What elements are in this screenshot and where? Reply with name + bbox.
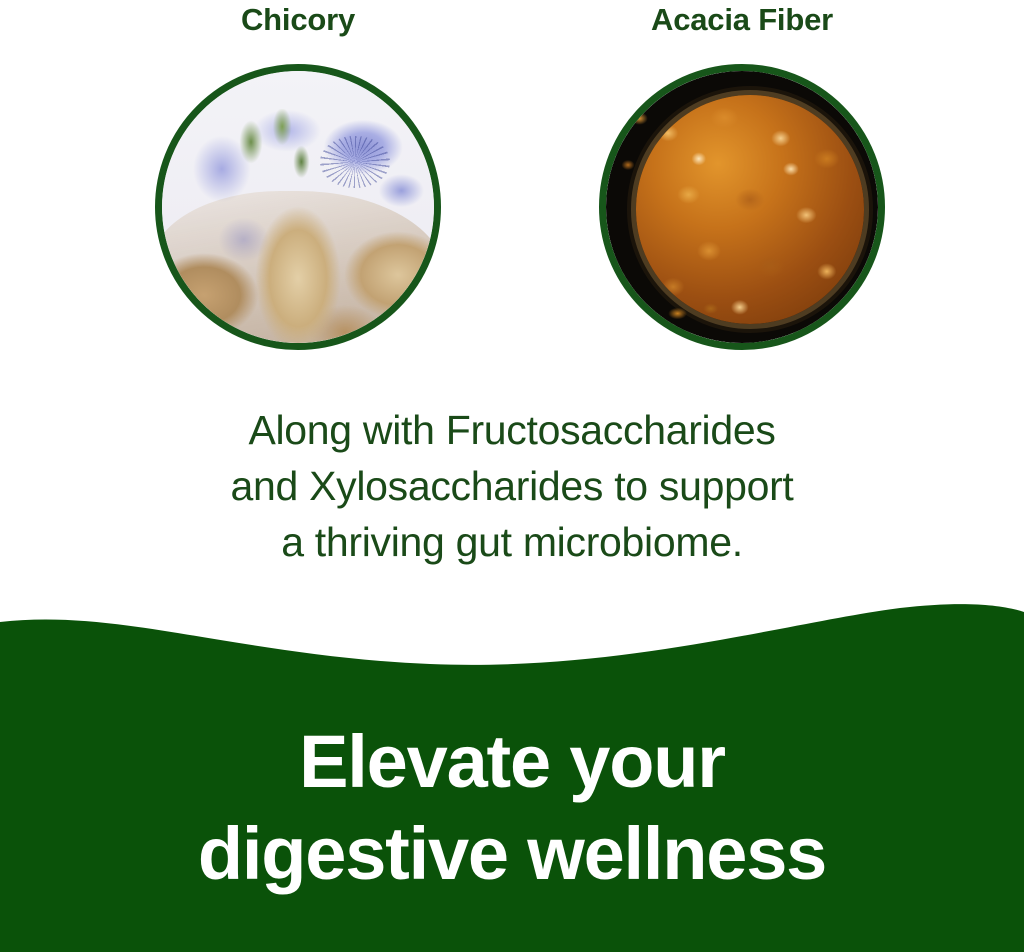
chicory-flowers-and-roots-art — [162, 71, 434, 343]
chicory-photo — [162, 71, 434, 343]
supporting-copy-line-2: and Xylosaccharides to support — [0, 458, 1024, 514]
ingredients-section: Chicory Acacia Fiber — [0, 0, 1024, 360]
supporting-copy-line-1: Along with Fructosaccharides — [0, 402, 1024, 458]
acacia-resin-art — [606, 71, 878, 343]
ingredient-card-acacia-fiber: Acacia Fiber — [592, 0, 892, 40]
page-headline: Elevate your digestive wellness — [0, 716, 1024, 900]
ingredient-image-chicory — [155, 64, 441, 350]
acacia-resin-spill-bottom — [650, 289, 742, 338]
supporting-copy: Along with Fructosaccharides and Xylosac… — [0, 402, 1024, 570]
chicory-foliage-detail — [227, 109, 347, 219]
ingredient-card-chicory: Chicory — [148, 0, 448, 40]
ingredient-promo-page: Chicory Acacia Fiber — [0, 0, 1024, 952]
headline-line-1: Elevate your — [0, 716, 1024, 808]
ingredient-label-acacia-fiber: Acacia Fiber — [592, 0, 892, 40]
headline-line-2: digestive wellness — [0, 808, 1024, 900]
ingredient-label-chicory: Chicory — [148, 0, 448, 40]
ingredient-image-acacia-fiber — [599, 64, 885, 350]
acacia-fiber-photo — [606, 71, 878, 343]
